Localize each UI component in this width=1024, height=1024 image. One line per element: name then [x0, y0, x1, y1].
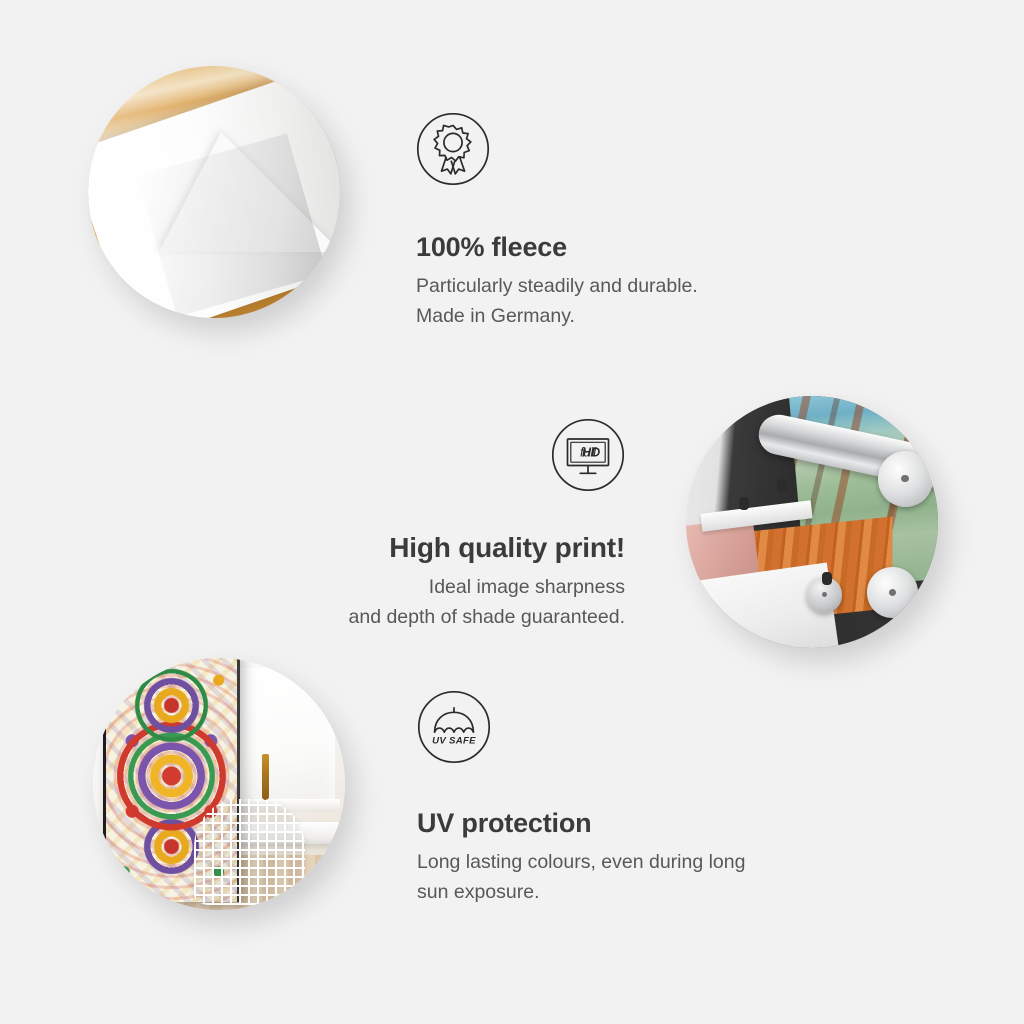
mandala-wallpaper-interior-photo — [93, 658, 345, 910]
interior-candle-holder — [262, 754, 269, 800]
interior-window — [224, 668, 335, 809]
feature-block-fleece: 100% fleece Particularly steadily and du… — [416, 112, 836, 331]
feature-heading: High quality print! — [245, 532, 625, 564]
feature-heading: UV protection — [417, 808, 847, 839]
interior-wire-chair — [194, 799, 305, 905]
full-hd-label-bold: HD — [582, 445, 600, 459]
printer-knob-c — [822, 572, 832, 585]
printer-knob-a — [739, 497, 749, 510]
feature-block-uv: UV SAFE UV protection Long lasting colou… — [417, 690, 847, 907]
promo-feature-board: 100% fleece Particularly steadily and du… — [0, 0, 1024, 1024]
feature-block-print: full HD High quality print! Ideal image … — [245, 418, 625, 632]
printer-wheel-bottom — [867, 567, 917, 617]
feature-description: Ideal image sharpness and depth of shade… — [245, 573, 625, 632]
full-hd-monitor-icon: full HD — [245, 418, 625, 492]
printer-knob-b — [777, 479, 787, 492]
feature-description: Particularly steadily and durable. Made … — [416, 272, 836, 331]
printer-wheel-top — [878, 451, 933, 506]
award-rosette-icon — [416, 112, 836, 186]
large-format-printer-photo — [686, 396, 938, 648]
uv-safe-label: UV SAFE — [432, 736, 476, 747]
uv-safe-umbrella-icon: UV SAFE — [417, 690, 847, 764]
feature-heading: 100% fleece — [416, 232, 836, 263]
feature-description: Long lasting colours, even during long s… — [417, 848, 847, 907]
wallpaper-fleece-peeled-corner-photo — [88, 66, 340, 318]
